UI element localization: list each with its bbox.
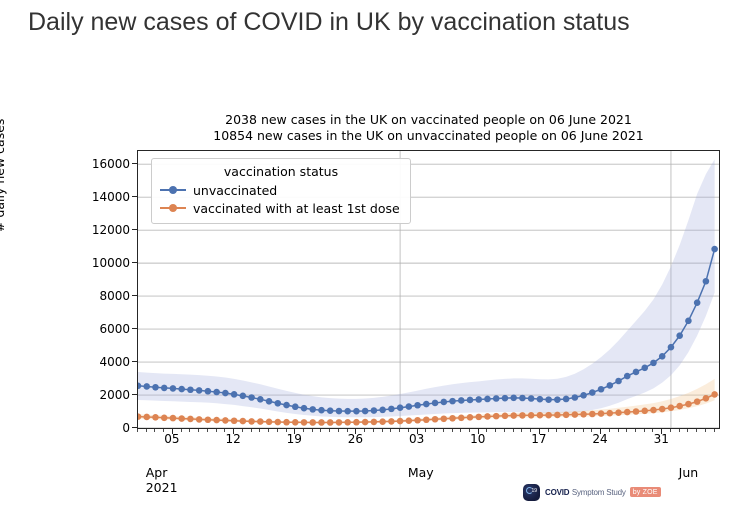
x-minor-tick-mark <box>390 429 391 432</box>
month-label: Jun <box>679 465 699 480</box>
x-minor-tick-mark <box>303 429 304 432</box>
month-label-name: Apr <box>146 465 178 480</box>
y-tick-mark <box>132 163 137 164</box>
x-tick-mark <box>172 429 173 434</box>
x-minor-tick-mark <box>460 429 461 432</box>
x-minor-tick-mark <box>137 429 138 432</box>
x-minor-tick-mark <box>635 429 636 432</box>
x-minor-tick-mark <box>443 429 444 432</box>
x-minor-tick-mark <box>679 429 680 432</box>
x-minor-tick-mark <box>181 429 182 432</box>
x-minor-tick-mark <box>242 429 243 432</box>
x-minor-tick-mark <box>530 429 531 432</box>
y-tick-label: 14000 <box>70 190 130 204</box>
y-tick-label: 6000 <box>70 322 130 336</box>
x-minor-tick-mark <box>495 429 496 432</box>
y-axis-label: # daily new cases <box>0 119 7 232</box>
x-tick-mark <box>661 429 662 434</box>
x-minor-tick-mark <box>286 429 287 432</box>
x-minor-tick-mark <box>714 429 715 432</box>
x-tick-mark <box>233 429 234 434</box>
y-tick-mark <box>132 427 137 428</box>
subtitle-line-unvaccinated: 10854 new cases in the UK on unvaccinate… <box>137 128 720 144</box>
x-minor-tick-mark <box>364 429 365 432</box>
x-minor-tick-mark <box>652 429 653 432</box>
x-tick-mark <box>417 429 418 434</box>
x-minor-tick-mark <box>548 429 549 432</box>
legend-swatch-vaccinated <box>160 201 186 215</box>
x-minor-tick-mark <box>268 429 269 432</box>
x-minor-tick-mark <box>626 429 627 432</box>
x-minor-tick-mark <box>312 429 313 432</box>
logo-zoe-badge: by ZOE <box>630 487 661 497</box>
y-tick-mark <box>132 295 137 296</box>
x-minor-tick-mark <box>486 429 487 432</box>
month-label-name: Jun <box>679 465 699 480</box>
x-minor-tick-mark <box>644 429 645 432</box>
x-minor-tick-mark <box>687 429 688 432</box>
y-tick-label: 12000 <box>70 223 130 237</box>
x-minor-tick-mark <box>696 429 697 432</box>
month-label: May <box>408 465 434 480</box>
x-minor-tick-mark <box>382 429 383 432</box>
x-minor-tick-mark <box>408 429 409 432</box>
x-minor-tick-mark <box>574 429 575 432</box>
chart-figure: 2038 new cases in the UK on vaccinated p… <box>0 0 750 518</box>
x-tick-label: 03 <box>409 432 424 446</box>
x-minor-tick-mark <box>565 429 566 432</box>
x-minor-tick-mark <box>521 429 522 432</box>
x-minor-tick-mark <box>399 429 400 432</box>
x-tick-label: 10 <box>470 432 485 446</box>
y-tick-mark <box>132 196 137 197</box>
y-axis-ticks: 0200040006000800010000120001400016000 <box>68 150 130 429</box>
x-minor-tick-mark <box>251 429 252 432</box>
y-tick-mark <box>132 394 137 395</box>
y-tick-label: 16000 <box>70 157 130 171</box>
subtitle-line-vaccinated: 2038 new cases in the UK on vaccinated p… <box>137 112 720 128</box>
y-tick-mark <box>132 328 137 329</box>
x-tick-mark <box>600 429 601 434</box>
legend-title: vaccination status <box>160 164 402 179</box>
x-tick-label: 26 <box>348 432 363 446</box>
x-minor-tick-mark <box>425 429 426 432</box>
month-label: Apr2021 <box>146 465 178 495</box>
x-minor-tick-mark <box>556 429 557 432</box>
x-minor-tick-mark <box>198 429 199 432</box>
y-tick-mark <box>132 361 137 362</box>
x-minor-tick-mark <box>469 429 470 432</box>
x-minor-tick-mark <box>583 429 584 432</box>
legend-item-unvaccinated[interactable]: unvaccinated <box>160 181 402 199</box>
x-minor-tick-mark <box>259 429 260 432</box>
legend-swatch-unvaccinated <box>160 183 186 197</box>
x-minor-tick-mark <box>224 429 225 432</box>
x-minor-tick-mark <box>338 429 339 432</box>
x-minor-tick-mark <box>329 429 330 432</box>
x-minor-tick-mark <box>373 429 374 432</box>
x-tick-label: 24 <box>592 432 607 446</box>
x-minor-tick-mark <box>513 429 514 432</box>
x-minor-tick-mark <box>154 429 155 432</box>
x-tick-mark <box>478 429 479 434</box>
y-tick-mark <box>132 262 137 263</box>
legend-label-vaccinated: vaccinated with at least 1st dose <box>193 201 400 216</box>
x-tick-label: 05 <box>164 432 179 446</box>
month-label-year: 2021 <box>146 480 178 495</box>
month-label-name: May <box>408 465 434 480</box>
x-minor-tick-mark <box>189 429 190 432</box>
y-tick-mark <box>132 229 137 230</box>
x-minor-tick-mark <box>591 429 592 432</box>
x-minor-tick-mark <box>216 429 217 432</box>
x-tick-label: 12 <box>225 432 240 446</box>
y-tick-label: 8000 <box>70 289 130 303</box>
x-tick-label: 17 <box>531 432 546 446</box>
legend-label-unvaccinated: unvaccinated <box>193 183 277 198</box>
x-minor-tick-mark <box>705 429 706 432</box>
x-tick-label: 31 <box>654 432 669 446</box>
x-minor-tick-mark <box>452 429 453 432</box>
x-tick-label: 19 <box>287 432 302 446</box>
legend-item-vaccinated[interactable]: vaccinated with at least 1st dose <box>160 199 402 217</box>
chart-legend: vaccination status unvaccinated vaccinat… <box>151 158 411 224</box>
logo-study-text: Symptom Study <box>572 488 626 497</box>
zoe-logo-icon <box>523 484 540 501</box>
zoe-covid-symptom-study-logo: COVID Symptom Study by ZOE <box>523 483 661 501</box>
x-minor-tick-mark <box>670 429 671 432</box>
x-minor-tick-mark <box>163 429 164 432</box>
x-minor-tick-mark <box>609 429 610 432</box>
x-minor-tick-mark <box>434 429 435 432</box>
x-minor-tick-mark <box>207 429 208 432</box>
logo-covid-text: COVID <box>545 488 569 497</box>
x-axis-ticks: 051219260310172431 <box>137 432 720 452</box>
y-tick-label: 4000 <box>70 355 130 369</box>
x-minor-tick-mark <box>277 429 278 432</box>
x-tick-mark <box>355 429 356 434</box>
x-minor-tick-mark <box>146 429 147 432</box>
x-minor-tick-mark <box>504 429 505 432</box>
y-tick-label: 10000 <box>70 256 130 270</box>
x-tick-mark <box>539 429 540 434</box>
x-tick-mark <box>294 429 295 434</box>
chart-subtitle: 2038 new cases in the UK on vaccinated p… <box>137 112 720 143</box>
x-minor-tick-mark <box>347 429 348 432</box>
x-minor-tick-mark <box>618 429 619 432</box>
y-tick-label: 0 <box>70 421 130 435</box>
y-tick-label: 2000 <box>70 388 130 402</box>
x-minor-tick-mark <box>320 429 321 432</box>
